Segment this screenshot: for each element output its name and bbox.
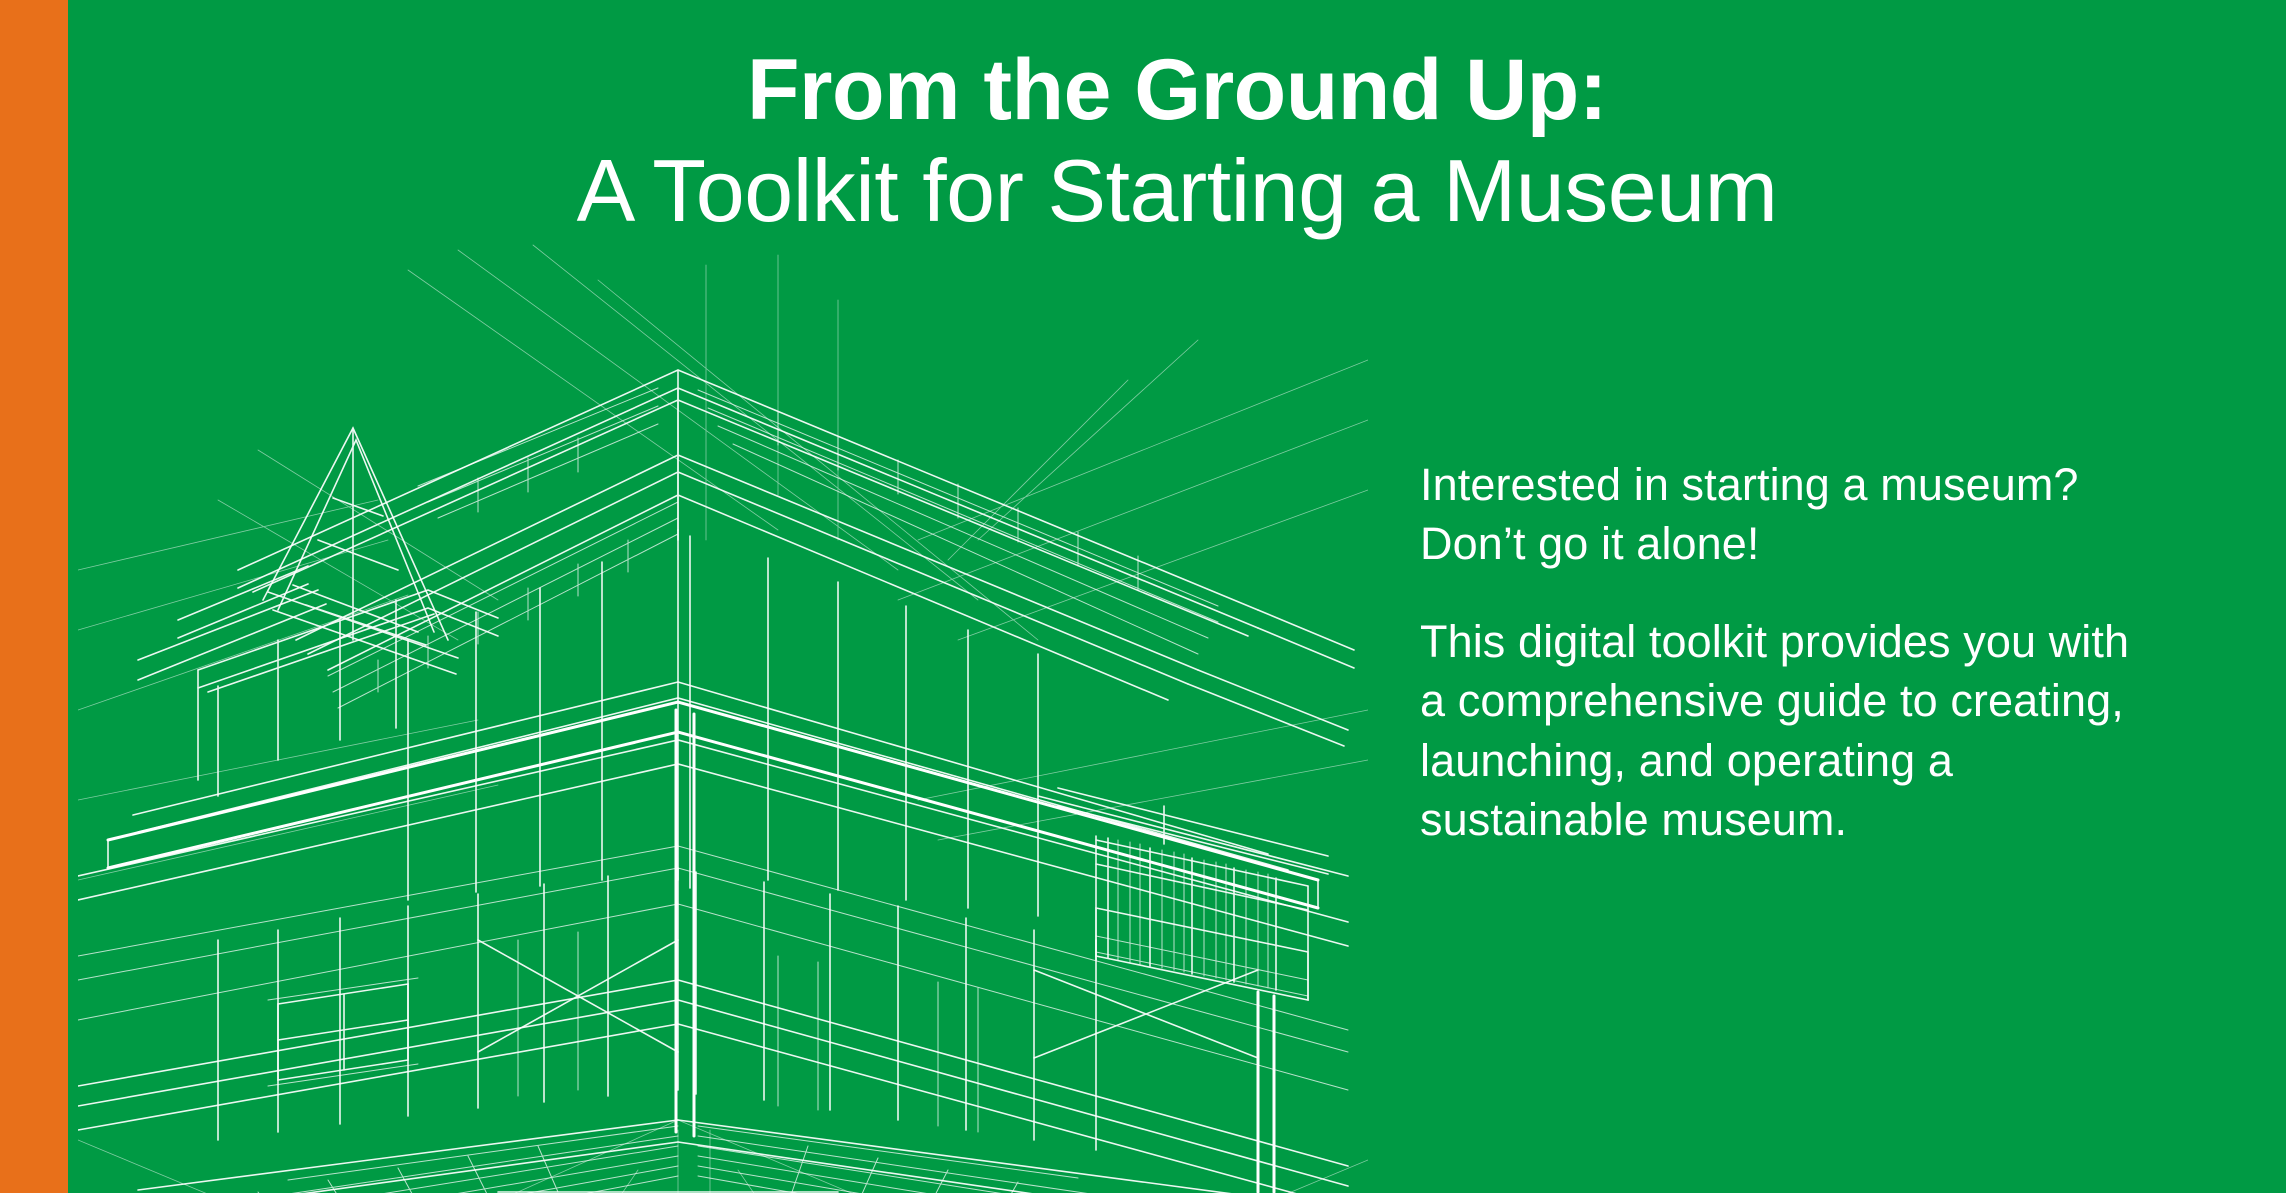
lower-fascia xyxy=(78,980,1348,1193)
wireframe-illustration xyxy=(78,240,1368,1193)
description-paragraph-1: Interested in starting a museum? Don’t g… xyxy=(1420,455,2140,574)
cross-bracing xyxy=(478,940,1258,1058)
promo-banner: From the Ground Up: A Toolkit for Starti… xyxy=(0,0,2286,1193)
page-title-line-2: A Toolkit for Starting a Museum xyxy=(68,135,2286,238)
banner-canvas: From the Ground Up: A Toolkit for Starti… xyxy=(68,0,2286,1193)
deck-extension-lines xyxy=(78,1120,1368,1193)
accent-bar-orange xyxy=(0,0,68,1193)
mid-floor-slab-edges xyxy=(78,682,1348,946)
description-block: Interested in starting a museum? Don’t g… xyxy=(1420,455,2140,849)
page-title-line-1: From the Ground Up: xyxy=(68,46,2286,135)
left-awning xyxy=(198,590,498,796)
heading-block: From the Ground Up: A Toolkit for Starti… xyxy=(68,0,2286,238)
construction-lines xyxy=(78,245,1368,880)
house-wireframe-svg xyxy=(78,240,1368,1193)
deck-planks xyxy=(103,1126,1278,1193)
roof-structure xyxy=(138,370,1354,746)
window-left xyxy=(278,984,408,1080)
description-paragraph-2: This digital toolkit provides you with a… xyxy=(1420,612,2140,850)
ground-floor-frame xyxy=(218,868,1096,1150)
